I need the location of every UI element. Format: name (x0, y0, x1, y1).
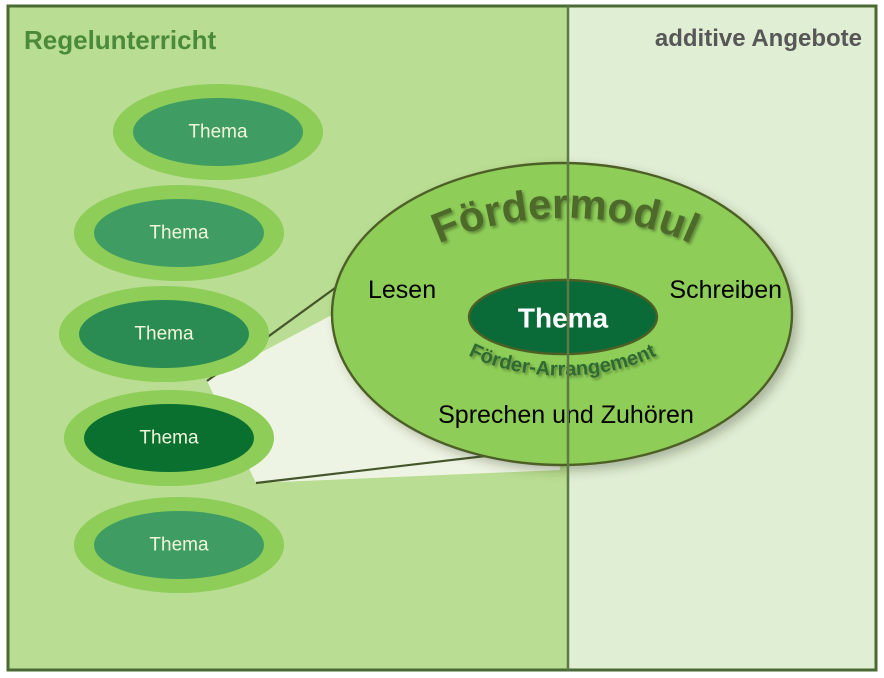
heading-regelunterricht: Regelunterricht (24, 25, 216, 55)
topic-item-highlighted[interactable]: Thema (64, 390, 274, 486)
topic-label: Thema (149, 223, 209, 244)
inner-topic-label: Thema (518, 303, 609, 334)
topic-label: Thema (188, 122, 248, 143)
topic-label: Thema (139, 428, 199, 449)
foerdermodul-group[interactable]: Fördermodul Thema Förder-Arrangement Les… (332, 163, 792, 465)
diagram-canvas: Thema Thema Thema Thema (0, 0, 884, 678)
topic-item[interactable]: Thema (113, 84, 323, 180)
diagram-svg: Thema Thema Thema Thema (0, 0, 884, 678)
topic-item[interactable]: Thema (59, 286, 269, 382)
topic-label: Thema (149, 535, 209, 556)
domain-label-schreiben: Schreiben (669, 276, 782, 304)
domain-label-lesen: Lesen (368, 276, 436, 304)
heading-additive-angebote: additive Angebote (655, 25, 862, 52)
topic-item[interactable]: Thema (74, 185, 284, 281)
topic-item[interactable]: Thema (74, 497, 284, 593)
domain-label-sprechen-und-zuhoeren: Sprechen und Zuhören (438, 401, 694, 429)
topic-label: Thema (134, 324, 194, 345)
